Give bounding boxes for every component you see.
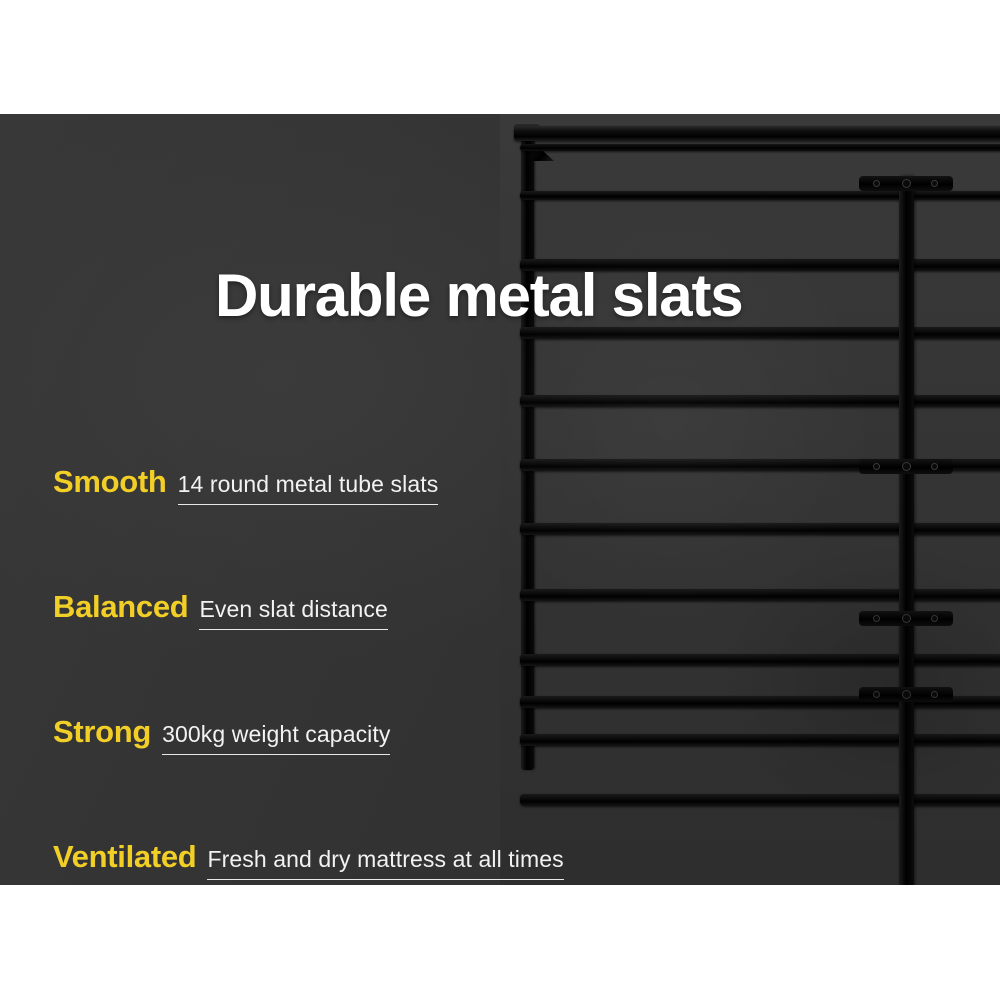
feature-term: Strong <box>53 716 151 747</box>
bolt-icon <box>931 615 938 622</box>
feature-description: 300kg weight capacity <box>162 723 390 755</box>
metal-slat <box>520 654 1000 666</box>
bolt-icon <box>873 180 880 187</box>
feature-description: Even slat distance <box>199 598 387 630</box>
slat-bolt-bracket <box>859 687 953 702</box>
bolt-icon <box>931 180 938 187</box>
bolt-icon <box>873 463 880 470</box>
frame-top-rail <box>514 126 1000 141</box>
metal-slat <box>520 191 1000 200</box>
feature-term: Smooth <box>53 466 167 497</box>
screenshot-root: Durable metal slats Smooth 14 round meta… <box>0 0 1000 1000</box>
feature-item-strong: Strong 300kg weight capacity <box>53 716 573 841</box>
feature-term: Balanced <box>53 591 188 622</box>
bolt-icon <box>931 463 938 470</box>
feature-item-smooth: Smooth 14 round metal tube slats <box>53 466 573 591</box>
feature-list: Smooth 14 round metal tube slats Balance… <box>53 466 573 880</box>
bolt-icon <box>931 691 938 698</box>
metal-slat <box>520 589 1000 601</box>
bolt-icon <box>873 691 880 698</box>
bolt-icon <box>873 615 880 622</box>
metal-slat <box>520 395 1000 407</box>
metal-slat <box>520 794 1000 806</box>
bolt-icon <box>902 690 911 699</box>
bolt-icon <box>902 462 911 471</box>
frame-center-support-rail <box>899 176 914 885</box>
feature-item-ventilated: Ventilated Fresh and dry mattress at all… <box>53 841 573 880</box>
promo-banner: Durable metal slats Smooth 14 round meta… <box>0 114 1000 885</box>
bolt-icon <box>902 179 911 188</box>
metal-slat <box>520 144 1000 151</box>
metal-slat <box>520 523 1000 535</box>
feature-term: Ventilated <box>53 841 196 872</box>
bolt-icon <box>902 614 911 623</box>
page-title: Durable metal slats <box>215 266 742 326</box>
slat-bolt-bracket <box>859 176 953 191</box>
feature-item-balanced: Balanced Even slat distance <box>53 591 573 716</box>
feature-description: Fresh and dry mattress at all times <box>207 848 563 880</box>
metal-slat <box>520 734 1000 746</box>
slat-bolt-bracket <box>859 611 953 626</box>
feature-description: 14 round metal tube slats <box>178 473 439 505</box>
product-photo-bed-frame <box>500 114 1000 885</box>
slat-bolt-bracket <box>859 459 953 474</box>
